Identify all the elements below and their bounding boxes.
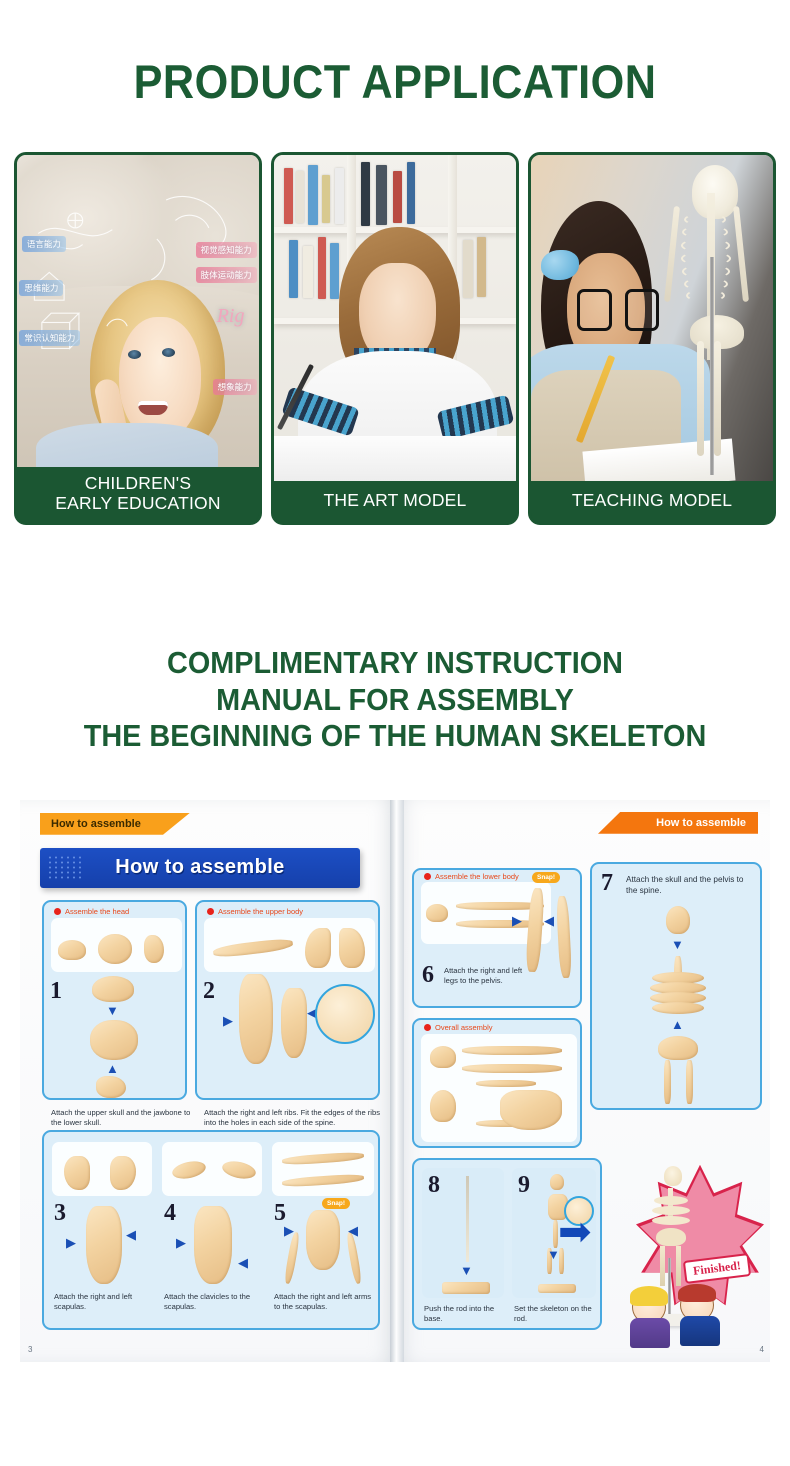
finished-illustration: ➡ Finished! — [606, 1162, 766, 1338]
step-number-6: 6 — [422, 962, 434, 989]
step-caption-5: Attach the right and left arms to the sc… — [274, 1292, 376, 1313]
step-panel-6: Assemble the lower body ▶ ◀ Snap! 6 Atta… — [412, 868, 582, 1008]
step-number-2: 2 — [203, 978, 215, 1005]
tab-right-label: How to assemble — [656, 817, 746, 829]
panel-overall-assembly: Overall assembly — [412, 1018, 582, 1148]
card-caption-1-line2: EARLY EDUCATION — [21, 493, 255, 514]
step-panel-7: 7 Attach the skull and the pelvis to the… — [590, 862, 762, 1110]
step-number-3: 3 — [54, 1200, 66, 1227]
kid-body-boy — [680, 1316, 720, 1346]
application-card-row: 语言能力 思维能力 常识认知能力 视觉感知能力 肢体运动能力 想象能力 Rig … — [0, 152, 790, 525]
step-panel-1: Assemble the head 1 ▼ ▲ Attach the upper… — [42, 900, 187, 1100]
section-head-2: Assemble the upper body — [218, 907, 303, 916]
step-caption-6: Attach the right and left legs to the pe… — [444, 966, 528, 987]
subheading-line-1: COMPLIMENTARY INSTRUCTION — [28, 645, 763, 682]
banner-title: How to assemble — [115, 856, 284, 879]
red-dot-icon — [424, 1024, 431, 1031]
page-number-left: 3 — [28, 1345, 32, 1354]
book-spine — [390, 800, 404, 1362]
step-number-4: 4 — [164, 1200, 176, 1227]
arrow-right-icon: ➡ — [558, 1212, 592, 1252]
application-card-children-early-education[interactable]: 语言能力 思维能力 常识认知能力 视觉感知能力 肢体运动能力 想象能力 Rig … — [14, 152, 262, 525]
step-number-9: 9 — [518, 1172, 530, 1199]
snap-bubble-step-6: Snap! — [532, 872, 560, 883]
step-number-7: 7 — [601, 870, 613, 897]
snap-bubble-step-5: Snap! — [322, 1198, 350, 1209]
skeleton-model-illustration — [652, 162, 758, 482]
manual-subheading: COMPLIMENTARY INSTRUCTION MANUAL FOR ASS… — [0, 645, 790, 755]
step-caption-4: Attach the clavicles to the scapulas. — [164, 1292, 262, 1313]
red-dot-icon — [424, 873, 431, 880]
step-number-1: 1 — [50, 978, 62, 1005]
application-card-teaching-model[interactable]: TEACHING MODEL — [528, 152, 776, 525]
page-number-right: 4 — [760, 1345, 764, 1354]
step-caption-8: Push the rod into the base. — [424, 1304, 510, 1325]
step-caption-3: Attach the right and left scapulas. — [54, 1292, 152, 1313]
section-head-4: Overall assembly — [435, 1023, 493, 1032]
instruction-manual-spread: How to assemble How to assemble How to a… — [10, 800, 780, 1362]
kid-body-girl — [630, 1318, 670, 1348]
section-head-3: Assemble the lower body — [435, 872, 519, 881]
step-number-8: 8 — [428, 1172, 440, 1199]
card-caption-2-line1: THE ART MODEL — [278, 490, 512, 511]
tab-left-label: How to assemble — [51, 818, 141, 830]
photo-girl-with-skeleton — [531, 155, 773, 481]
section-head-1: Assemble the head — [65, 907, 129, 916]
photo-toddler-early-education: 语言能力 思维能力 常识认知能力 视觉感知能力 肢体运动能力 想象能力 Rig — [17, 155, 259, 467]
zoom-callout-ribs — [315, 984, 375, 1044]
subheading-line-3: THE BEGINNING OF THE HUMAN SKELETON — [28, 718, 763, 755]
rod-illustration — [466, 1176, 469, 1262]
application-card-art-model[interactable]: THE ART MODEL — [271, 152, 519, 525]
step-caption-9: Set the skeleton on the rod. — [514, 1304, 602, 1325]
step-caption-7: Attach the skull and the pelvis to the s… — [626, 874, 756, 896]
page-title: PRODUCT APPLICATION — [32, 58, 759, 105]
card-caption-1: CHILDREN'S EARLY EDUCATION — [17, 467, 259, 522]
card-caption-2: THE ART MODEL — [274, 481, 516, 522]
card-caption-3-line1: TEACHING MODEL — [535, 490, 769, 511]
photo-child-painting — [274, 155, 516, 481]
banner-how-to-assemble: How to assemble — [40, 848, 360, 888]
red-dot-icon — [207, 908, 214, 915]
tab-how-to-assemble-right: How to assemble — [598, 812, 758, 834]
red-dot-icon — [54, 908, 61, 915]
card-caption-1-line1: CHILDREN'S — [21, 473, 255, 494]
step-caption-1: Attach the upper skull and the jawbone t… — [51, 1108, 191, 1129]
step-panel-345-group: 3 ▶ ◀ Attach the right and left scapulas… — [42, 1130, 380, 1330]
subheading-line-2: MANUAL FOR ASSEMBLY — [28, 682, 763, 719]
card-caption-3: TEACHING MODEL — [531, 481, 773, 522]
step-caption-2: Attach the right and left ribs. Fit the … — [204, 1108, 384, 1129]
dot-grid-decoration — [47, 855, 81, 881]
step-panel-2: Assemble the upper body 2 ▶ ◀ Attach the… — [195, 900, 380, 1100]
